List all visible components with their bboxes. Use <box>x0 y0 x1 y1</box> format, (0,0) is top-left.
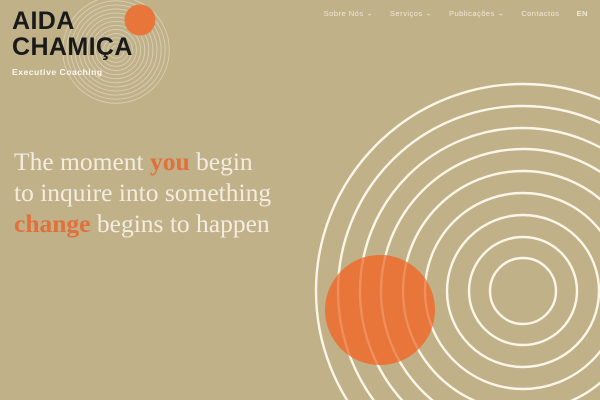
ring <box>425 193 600 389</box>
headline-accent-change: change <box>14 209 91 238</box>
site-header: AIDA CHAMIÇA Executive Coaching Sobre Nó… <box>0 0 600 92</box>
hero-rings-background <box>316 84 600 400</box>
hero-headline: The moment you begin to inquire into som… <box>14 146 344 239</box>
ring <box>338 106 600 400</box>
logo-wordmark: AIDA CHAMIÇA Executive Coaching <box>12 8 133 77</box>
headline-line-1: The moment you begin <box>14 146 344 177</box>
ring <box>425 193 600 389</box>
ring <box>360 128 600 400</box>
ring <box>381 149 600 400</box>
ring <box>447 215 599 367</box>
ring <box>403 171 600 400</box>
nav-label: Serviços <box>390 9 423 18</box>
ring <box>490 258 556 324</box>
main-navigation: Sobre Nós ⌄ Serviços ⌄ Publicações ⌄ Con… <box>324 9 588 18</box>
headline-text: to inquire into something <box>14 178 271 207</box>
nav-item-sobre-nos[interactable]: Sobre Nós ⌄ <box>324 9 373 18</box>
headline-line-3: change begins to happen <box>14 208 344 239</box>
site-logo[interactable]: AIDA CHAMIÇA Executive Coaching <box>12 8 162 90</box>
nav-label: Publicações <box>449 9 495 18</box>
chevron-down-icon: ⌄ <box>367 11 373 18</box>
ring <box>338 106 600 400</box>
ring <box>316 84 600 400</box>
headline-text: begin <box>190 147 253 176</box>
logo-line-1: AIDA <box>12 8 133 34</box>
nav-label: Sobre Nós <box>324 9 364 18</box>
hero-rings-over-circle <box>316 84 600 400</box>
ring <box>469 237 577 345</box>
chevron-down-icon: ⌄ <box>498 11 504 18</box>
ring <box>447 215 599 367</box>
headline-line-2: to inquire into something <box>14 177 344 208</box>
headline-accent-you: you <box>150 147 190 176</box>
logo-tagline: Executive Coaching <box>12 67 133 77</box>
nav-item-servicos[interactable]: Serviços ⌄ <box>390 9 432 18</box>
ring <box>469 237 577 345</box>
nav-label: Contactos <box>521 9 559 18</box>
headline-text: begins to happen <box>91 209 270 238</box>
nav-item-contactos[interactable]: Contactos <box>521 9 559 18</box>
chevron-down-icon: ⌄ <box>426 11 432 18</box>
orange-circle <box>325 255 435 365</box>
headline-text: The moment <box>14 147 150 176</box>
ring <box>490 258 556 324</box>
logo-line-2: CHAMIÇA <box>12 34 133 60</box>
ring <box>360 128 600 400</box>
language-switcher-en[interactable]: EN <box>576 9 588 18</box>
ring <box>403 171 600 400</box>
nav-item-publicacoes[interactable]: Publicações ⌄ <box>449 9 504 18</box>
ring <box>316 84 600 400</box>
ring <box>381 149 600 400</box>
